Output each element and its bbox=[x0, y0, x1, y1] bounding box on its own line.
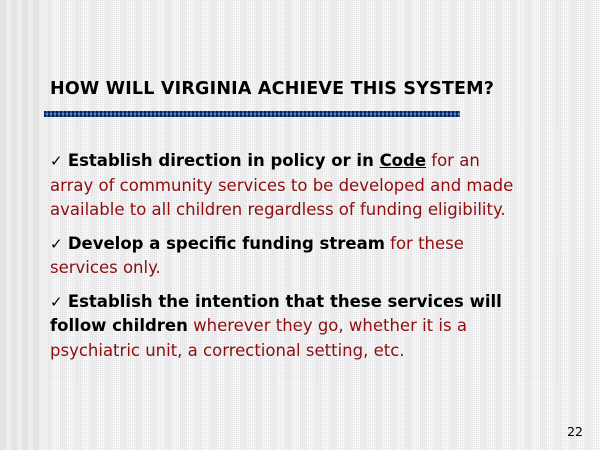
check-mark-icon: ✓ bbox=[50, 152, 63, 170]
slide-body: ✓ Establish direction in policy or in Co… bbox=[50, 149, 520, 363]
left-decorative-stripe-band bbox=[0, 0, 44, 450]
bullet-item: ✓ Establish the intention that these ser… bbox=[50, 290, 520, 364]
bullet-item: ✓ Develop a specific funding stream for … bbox=[50, 232, 520, 281]
page-number: 22 bbox=[567, 424, 583, 439]
bullet-lead-text: Develop a specific funding stream bbox=[68, 234, 385, 253]
bullet-lead-text: Establish direction in policy or in Code bbox=[68, 151, 426, 170]
bullet-lead-underlined: Code bbox=[380, 151, 426, 170]
presentation-slide: HOW WILL VIRGINIA ACHIEVE THIS SYSTEM? ✓… bbox=[0, 0, 600, 450]
bullet-item: ✓ Establish direction in policy or in Co… bbox=[50, 149, 520, 223]
check-mark-icon: ✓ bbox=[50, 235, 63, 253]
left-band-edge-divider bbox=[44, 0, 47, 450]
bullet-lead-plain: Establish direction in policy or in bbox=[68, 151, 380, 170]
check-mark-icon: ✓ bbox=[50, 293, 63, 311]
slide-title: HOW WILL VIRGINIA ACHIEVE THIS SYSTEM? bbox=[50, 79, 494, 99]
title-underline-rule bbox=[44, 111, 460, 117]
bullet-lead-plain: Develop a specific funding stream bbox=[68, 234, 385, 253]
